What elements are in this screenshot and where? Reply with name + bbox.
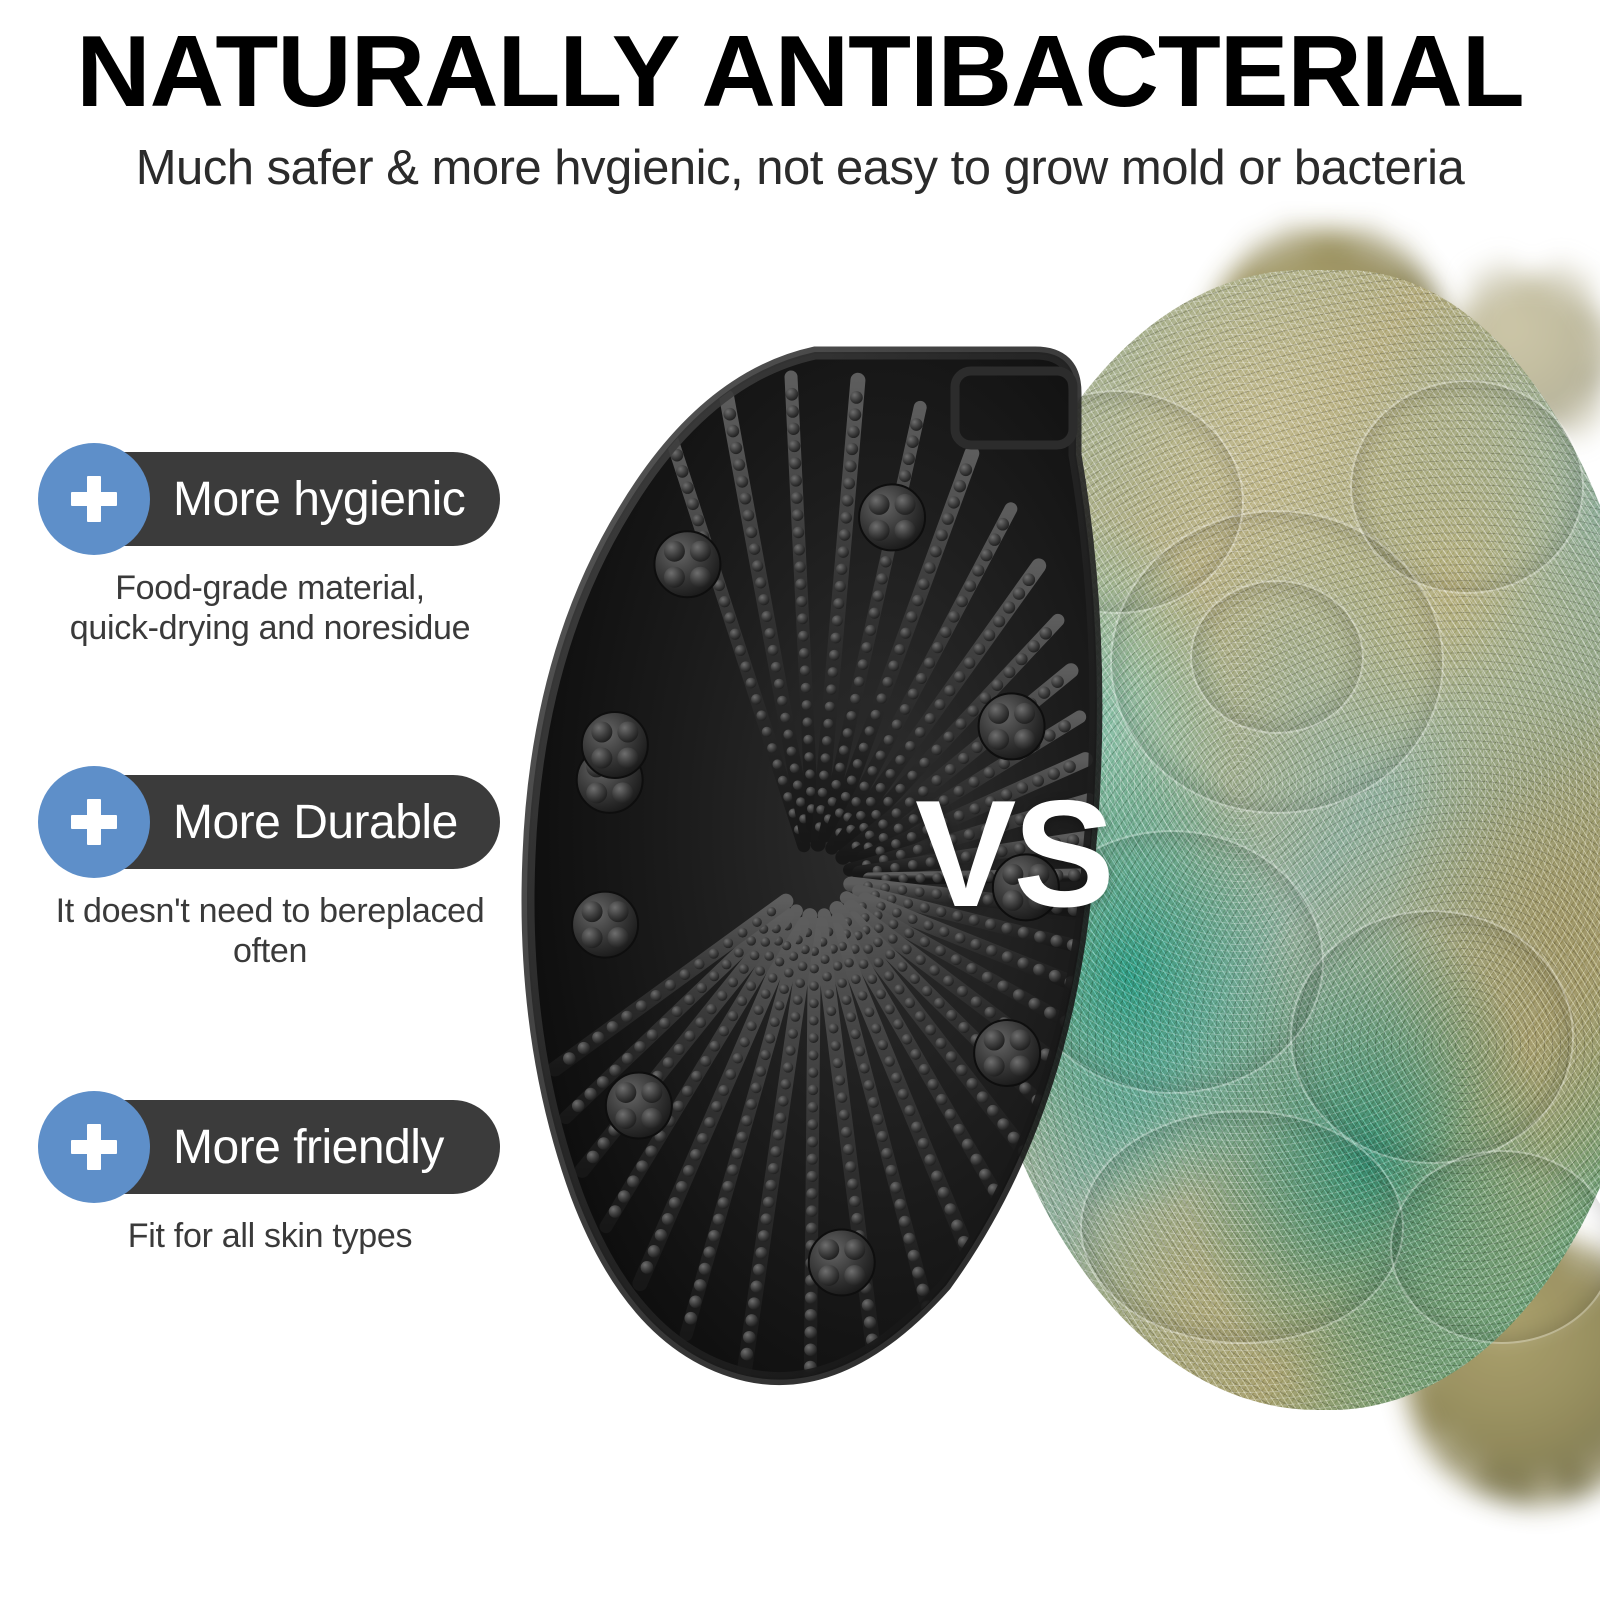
feature-pill-2[interactable]: More friendly [48,1100,500,1194]
scrubber-massage-nub [809,1229,875,1295]
feature-caption-2-line1: Fit for all skin types [0,1216,540,1256]
scrubber-massage-nub [974,1020,1040,1086]
feature-label-1: More Durable [173,795,458,850]
page-subtitle: Much safer & more hvgienic, not easy to … [0,140,1600,196]
page-title: NATURALLY ANTIBACTERIAL [0,18,1600,127]
feature-caption-1-line1: It doesn't need to bereplaced [0,891,540,931]
plus-icon [38,443,150,555]
scrubber-massage-nub [606,1072,672,1138]
vs-label: VS [915,778,1112,930]
feature-pill-1[interactable]: More Durable [48,775,500,869]
scrubber-massage-nub [979,693,1045,759]
feature-caption-0: Food-grade material, quick-drying and no… [0,568,540,648]
scrubber-massage-nub [572,892,638,958]
plus-icon [38,766,150,878]
feature-label-2: More friendly [173,1120,444,1175]
feature-item-1: More Durable It doesn't need to bereplac… [0,775,540,971]
feature-caption-1: It doesn't need to bereplaced often [0,891,540,971]
feature-caption-1-line2: often [0,931,540,971]
feature-caption-0-line1: Food-grade material, [0,568,540,608]
scrubber-massage-nub [582,712,648,778]
feature-label-0: More hygienic [173,472,465,527]
scrubber-massage-nub [654,531,720,597]
scrubber-massage-nub [859,484,925,550]
feature-caption-2: Fit for all skin types [0,1216,540,1256]
plus-icon [38,1091,150,1203]
feature-pill-0[interactable]: More hygienic [48,452,500,546]
feature-item-2: More friendly Fit for all skin types [0,1100,540,1256]
feature-caption-0-line2: quick-drying and noresidue [0,608,540,648]
bacteria-spike-icon [1536,1473,1556,1508]
infographic-canvas: NATURALLY ANTIBACTERIAL Much safer & mor… [0,0,1600,1600]
feature-item-0: More hygienic Food-grade material, quick… [0,452,540,648]
